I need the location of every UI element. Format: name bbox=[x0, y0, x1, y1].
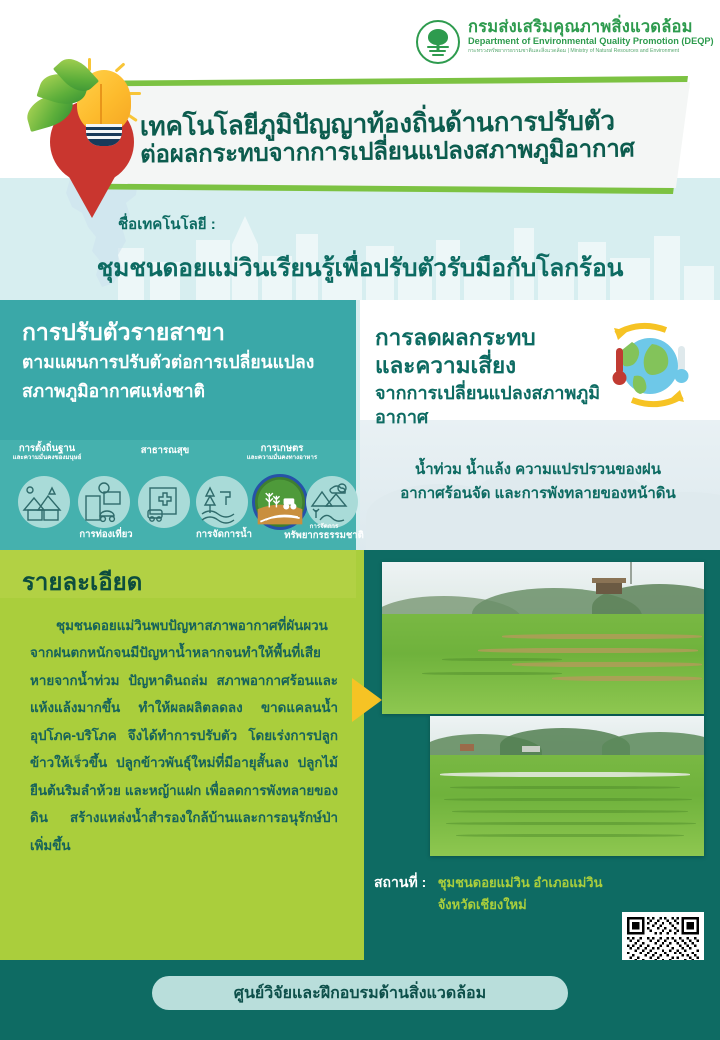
sector-label-tourism: การท่องเที่ยว bbox=[64, 530, 148, 541]
footer-pill: ศูนย์วิจัยและฝึกอบรมด้านสิ่งแวดล้อม bbox=[152, 976, 568, 1010]
deqp-logo: กรมส่งเสริมคุณภาพสิ่งแวดล้อม Department … bbox=[416, 18, 706, 76]
location-line-1: ชุมชนดอยแม่วิน อำเภอแม่วิน bbox=[438, 872, 603, 894]
details-title: รายละเอียด bbox=[22, 562, 142, 601]
location-info: สถานที่ : ชุมชนดอยแม่วิน อำเภอแม่วิน จัง… bbox=[374, 872, 704, 917]
lime-vertical-strip bbox=[356, 550, 364, 960]
sector-title-line-2: ตามแผนการปรับตัวต่อการเปลี่ยนแปลง bbox=[22, 350, 342, 375]
impact-line-1: น้ำท่วม น้ำแล้ง ความแปรปรวนของฝน bbox=[356, 458, 720, 482]
details-body: ชุมชนดอยแม่วินพบปัญหาสภาพอากาศที่ผันผวนจ… bbox=[30, 612, 338, 859]
sector-label-water-management: การจัดการน้ำ bbox=[182, 530, 266, 541]
sector-icon-water-management[interactable] bbox=[196, 476, 248, 528]
sector-label-agriculture: การเกษตร และความมั่นคงทางอาหาร bbox=[236, 444, 328, 462]
sector-title-line-3: สภาพภูมิอากาศแห่งชาติ bbox=[22, 379, 342, 404]
impact-title-line-2: และความเสี่ยง bbox=[375, 352, 625, 380]
sector-label-natural-resources: การจัดการ ทรัพยากรธรรมชาติ bbox=[282, 524, 366, 542]
poster-root: กรมส่งเสริมคุณภาพสิ่งแวดล้อม Department … bbox=[0, 0, 720, 1040]
terraced-rice-field-photo-2 bbox=[430, 716, 704, 856]
technology-label: ชื่อเทคโนโลยี : bbox=[118, 212, 216, 236]
impact-description: น้ำท่วม น้ำแล้ง ความแปรปรวนของฝน อากาศร้… bbox=[356, 458, 720, 507]
sector-label-settlement: การตั้งถิ่นฐาน และความมั่นคงของมนุษย์ bbox=[6, 444, 88, 462]
sector-icon-natural-resources[interactable] bbox=[306, 476, 358, 528]
impact-line-2: อากาศร้อนจัด และการพังทลายของหน้าดิน bbox=[356, 482, 720, 506]
sector-label-public-health: สาธารณสุข bbox=[124, 446, 206, 457]
sector-title-line-1: การปรับตัวรายสาขา bbox=[22, 318, 342, 346]
sector-icon-tourism[interactable] bbox=[78, 476, 130, 528]
deqp-seal-icon bbox=[416, 20, 460, 64]
arrow-right-icon bbox=[352, 678, 382, 722]
org-english-name: Department of Environmental Quality Prom… bbox=[468, 36, 714, 48]
lightbulb-map-pin-logo bbox=[22, 52, 150, 202]
globe-warming-thermometer-icon bbox=[594, 318, 706, 414]
location-label: สถานที่ : bbox=[374, 872, 426, 894]
bulb-base bbox=[86, 124, 122, 146]
sector-panel-title: การปรับตัวรายสาขา ตามแผนการปรับตัวต่อการ… bbox=[22, 318, 342, 404]
page-title-line-2: ต่อผลกระทบจากการเปลี่ยนแปลงสภาพภูมิอากาศ bbox=[140, 135, 680, 170]
impact-title-line-3: จากการเปลี่ยนแปลงสภาพภูมิอากาศ bbox=[375, 382, 625, 429]
poster-header: กรมส่งเสริมคุณภาพสิ่งแวดล้อม Department … bbox=[0, 0, 720, 300]
page-title: เทคโนโลยีภูมิปัญญาท้องถิ่นด้านการปรับตัว… bbox=[139, 89, 680, 186]
sector-icon-settlement[interactable] bbox=[18, 476, 70, 528]
impact-panel-title: การลดผลกระทบ และความเสี่ยง จากการเปลี่ยน… bbox=[375, 324, 625, 429]
org-thai-name: กรมส่งเสริมคุณภาพสิ่งแวดล้อม bbox=[468, 19, 714, 36]
water-waves-icon bbox=[427, 46, 449, 55]
org-ministry-line: กระทรวงทรัพยากรธรรมชาติและสิ่งแวดล้อม | … bbox=[468, 48, 714, 55]
technology-name: ชุมชนดอยแม่วินเรียนรู้เพื่อปรับตัวรับมือ… bbox=[0, 248, 720, 287]
terraced-rice-field-photo-1 bbox=[382, 562, 704, 714]
footer-label: ศูนย์วิจัยและฝึกอบรมด้านสิ่งแวดล้อม bbox=[234, 981, 486, 1006]
details-paragraph: ชุมชนดอยแม่วินพบปัญหาสภาพอากาศที่ผันผวนจ… bbox=[30, 612, 338, 859]
bulb-filament bbox=[100, 84, 102, 124]
panels-section: การปรับตัวรายสาขา ตามแผนการปรับตัวต่อการ… bbox=[0, 300, 720, 550]
sector-icon-agriculture[interactable] bbox=[252, 474, 308, 530]
sector-icons-row: การตั้งถิ่นฐาน และความมั่นคงของมนุษย์ กา… bbox=[6, 444, 350, 546]
sector-icon-public-health[interactable] bbox=[138, 476, 190, 528]
location-line-2: จังหวัดเชียงใหม่ bbox=[438, 894, 603, 916]
impact-title-line-1: การลดผลกระทบ bbox=[375, 324, 625, 352]
